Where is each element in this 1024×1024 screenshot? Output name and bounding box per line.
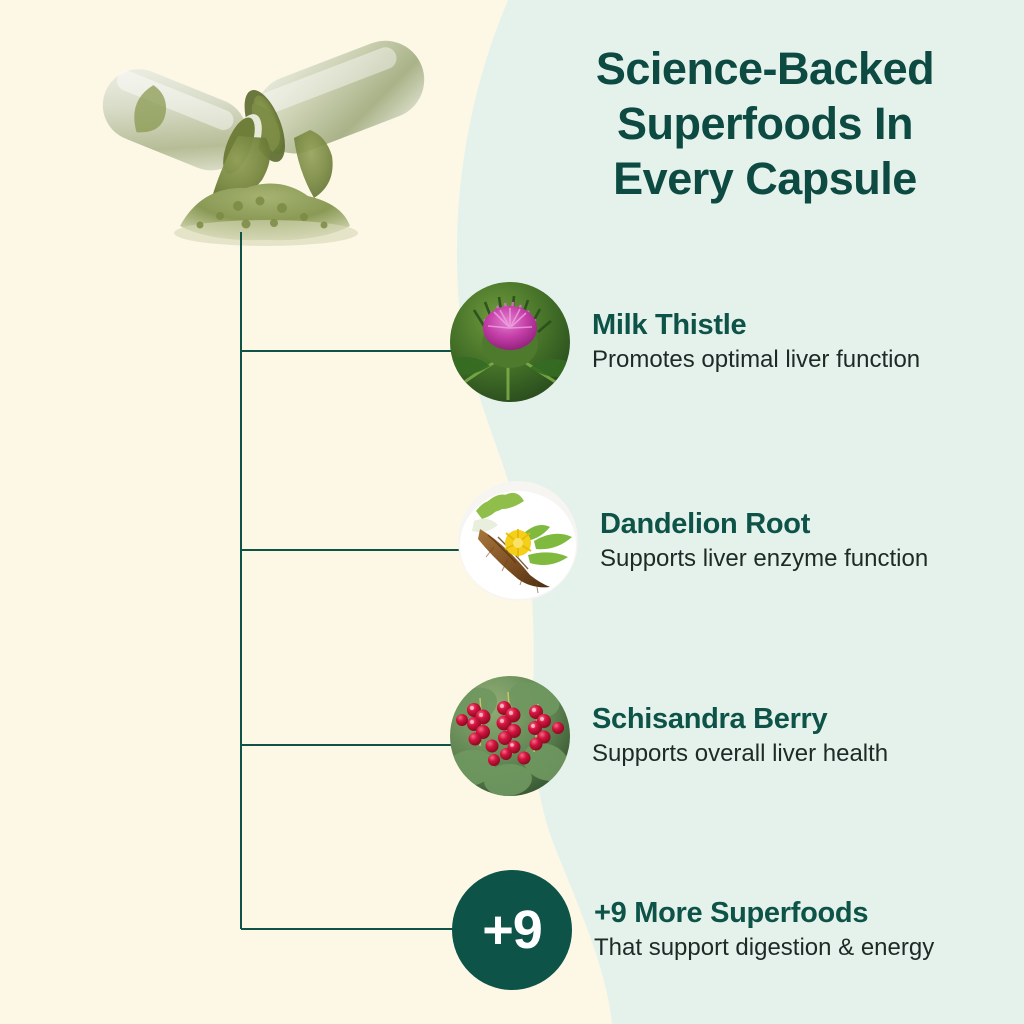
feature-item-schisandra-berry[interactable]: Schisandra Berry Supports overall liver …	[450, 676, 888, 796]
feature-title: Milk Thistle	[592, 309, 920, 342]
capsule-hero-image	[70, 18, 470, 258]
badge-label: +9	[482, 899, 542, 961]
feature-title: +9 More Superfoods	[594, 897, 934, 930]
feature-description: Promotes optimal liver function	[592, 344, 920, 375]
feature-description: Supports liver enzyme function	[600, 543, 928, 574]
headline-line-2: Superfoods In	[530, 97, 1000, 152]
headline-line-1: Science-Backed	[530, 42, 1000, 97]
feature-item-milk-thistle[interactable]: Milk Thistle Promotes optimal liver func…	[450, 282, 920, 402]
schisandra-berry-photo	[450, 676, 570, 796]
infographic-canvas: Science-Backed Superfoods In Every Capsu…	[0, 0, 1024, 1024]
milk-thistle-photo	[450, 282, 570, 402]
headline-line-3: Every Capsule	[530, 152, 1000, 207]
page-title: Science-Backed Superfoods In Every Capsu…	[530, 42, 1000, 207]
dandelion-root-photo	[458, 481, 578, 601]
feature-title: Schisandra Berry	[592, 703, 888, 736]
feature-description: That support digestion & energy	[594, 932, 934, 963]
plus-nine-badge: +9	[452, 870, 572, 990]
feature-item-dandelion-root[interactable]: Dandelion Root Supports liver enzyme fun…	[458, 481, 928, 601]
feature-description: Supports overall liver health	[592, 738, 888, 769]
feature-item-more-superfoods[interactable]: +9 +9 More Superfoods That support diges…	[452, 870, 934, 990]
feature-title: Dandelion Root	[600, 508, 928, 541]
